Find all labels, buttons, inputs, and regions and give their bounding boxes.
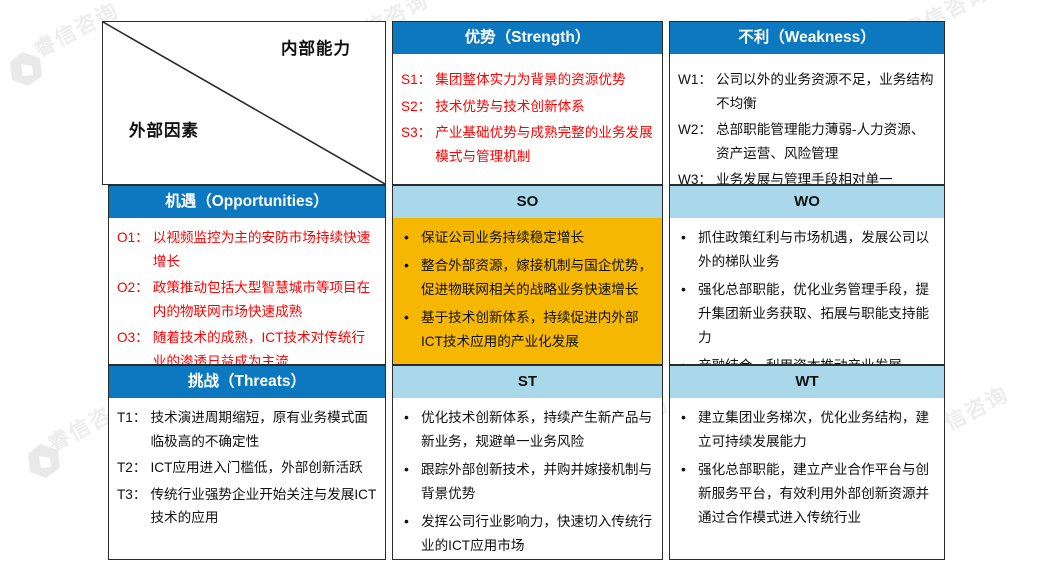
list-item: O1：以视频监控为主的安防市场持续快速增长	[117, 226, 377, 273]
so-header: SO	[393, 186, 662, 218]
list-item: 保证公司业务持续稳定增长	[401, 226, 654, 250]
weakness-header: 不利（Weakness）	[670, 22, 944, 54]
list-item: 产融结合，利用资本推动产业发展	[678, 354, 936, 365]
item-key: O2：	[117, 276, 149, 323]
wo-quadrant: WO 抓住政策红利与市场机遇，发展公司以外的梯队业务 强化总部职能，优化业务管理…	[669, 185, 945, 365]
item-key: O1：	[117, 226, 149, 273]
list-item: S1：集团整体实力为背景的资源优势	[401, 68, 654, 92]
item-text: 集团整体实力为背景的资源优势	[435, 68, 654, 92]
item-key: T2：	[117, 456, 146, 480]
wo-list: 抓住政策红利与市场机遇，发展公司以外的梯队业务 强化总部职能，优化业务管理手段，…	[678, 226, 936, 365]
list-item: W3：业务发展与管理手段相对单一	[678, 168, 936, 185]
list-item: O3：随着技术的成熟，ICT技术对传统行业的渗透日益成为主流	[117, 326, 377, 365]
opportunities-list: O1：以视频监控为主的安防市场持续快速增长 O2：政策推动包括大型智慧城市等项目…	[117, 226, 377, 365]
strength-column: 优势（Strength） S1：集团整体实力为背景的资源优势 S2：技术优势与技…	[392, 21, 663, 185]
wt-header: WT	[670, 366, 944, 398]
weakness-column: 不利（Weakness） W1：公司以外的业务资源不足，业务结构不均衡 W2：总…	[669, 21, 945, 185]
item-key: S3：	[401, 121, 431, 168]
wt-list: 建立集团业务梯次，优化业务结构，建立可持续发展能力 强化总部职能，建立产业合作平…	[678, 406, 936, 530]
wo-header: WO	[670, 186, 944, 218]
list-item: 跟踪外部创新技术，并购并嫁接机制与背景优势	[401, 458, 654, 506]
item-key: W1：	[678, 68, 712, 115]
list-item: 发挥公司行业影响力，快速切入传统行业的ICT应用市场	[401, 510, 654, 558]
item-text: 业务发展与管理手段相对单一	[716, 168, 936, 185]
item-text: 技术演进周期缩短，原有业务模式面临极高的不确定性	[150, 406, 377, 453]
list-item: W1：公司以外的业务资源不足，业务结构不均衡	[678, 68, 936, 115]
item-text: 产业基础优势与成熟完整的业务发展模式与管理机制	[435, 121, 654, 168]
item-text: 总部职能管理能力薄弱-人力资源、资产运营、风险管理	[716, 118, 936, 165]
strength-body: S1：集团整体实力为背景的资源优势 S2：技术优势与技术创新体系 S3：产业基础…	[393, 54, 662, 184]
item-key: O3：	[117, 326, 149, 365]
item-text: 以视频监控为主的安防市场持续快速增长	[153, 226, 377, 273]
wt-quadrant: WT 建立集团业务梯次，优化业务结构，建立可持续发展能力 强化总部职能，建立产业…	[669, 365, 945, 560]
threats-body: T1：技术演进周期缩短，原有业务模式面临极高的不确定性 T2：ICT应用进入门槛…	[109, 398, 385, 559]
list-item: 强化总部职能，建立产业合作平台与创新服务平台，有效利用外部创新资源并通过合作模式…	[678, 458, 936, 530]
axis-corner-cell: 内部能力 外部因素	[102, 21, 386, 185]
list-item: T3：传统行业强势企业开始关注与发展ICT技术的应用	[117, 483, 377, 530]
watermark-logo	[24, 440, 64, 485]
list-item: 强化总部职能，优化业务管理手段，提升集团新业务获取、拓展与职能支持能力	[678, 278, 936, 350]
item-text: 公司以外的业务资源不足，业务结构不均衡	[716, 68, 936, 115]
so-body: 保证公司业务持续稳定增长 整合外部资源，嫁接机制与国企优势，促进物联网相关的战略…	[393, 218, 662, 364]
swot-matrix-page: 睿信咨询 睿信咨询 睿信咨询 睿信咨询 睿信咨询 睿信咨询 睿信咨询 内部能力 …	[0, 0, 1040, 578]
opportunities-header: 机遇（Opportunities）	[109, 186, 385, 218]
list-item: 基于技术创新体系，持续促进内外部ICT技术应用的产业化发展	[401, 306, 654, 354]
list-item: S3：产业基础优势与成熟完整的业务发展模式与管理机制	[401, 121, 654, 168]
wt-body: 建立集团业务梯次，优化业务结构，建立可持续发展能力 强化总部职能，建立产业合作平…	[670, 398, 944, 559]
swot-grid: 内部能力 外部因素 优势（Strength） S1：集团整体实力为背景的资源优势…	[102, 21, 945, 560]
item-key: S2：	[401, 95, 431, 119]
st-quadrant: ST 优化技术创新体系，持续产生新产品与新业务，规避单一业务风险 跟踪外部创新技…	[392, 365, 663, 560]
item-key: S1：	[401, 68, 431, 92]
threats-row-header-cell: 挑战（Threats） T1：技术演进周期缩短，原有业务模式面临极高的不确定性 …	[108, 365, 386, 560]
watermark-logo	[6, 48, 46, 93]
list-item: 建立集团业务梯次，优化业务结构，建立可持续发展能力	[678, 406, 936, 454]
st-list: 优化技术创新体系，持续产生新产品与新业务，规避单一业务风险 跟踪外部创新技术，并…	[401, 406, 654, 558]
list-item: O2：政策推动包括大型智慧城市等项目在内的物联网市场快速成熟	[117, 276, 377, 323]
item-key: T1：	[117, 406, 146, 453]
st-header: ST	[393, 366, 662, 398]
item-text: 传统行业强势企业开始关注与发展ICT技术的应用	[150, 483, 377, 530]
list-item: T2：ICT应用进入门槛低，外部创新活跃	[117, 456, 377, 480]
external-factors-label: 外部因素	[129, 117, 199, 141]
list-item: S2：技术优势与技术创新体系	[401, 95, 654, 119]
item-key: W2：	[678, 118, 712, 165]
weakness-list: W1：公司以外的业务资源不足，业务结构不均衡 W2：总部职能管理能力薄弱-人力资…	[678, 68, 936, 185]
item-key: T3：	[117, 483, 146, 530]
strength-list: S1：集团整体实力为背景的资源优势 S2：技术优势与技术创新体系 S3：产业基础…	[401, 68, 654, 168]
opportunities-row-header-cell: 机遇（Opportunities） O1：以视频监控为主的安防市场持续快速增长 …	[108, 185, 386, 365]
so-quadrant: SO 保证公司业务持续稳定增长 整合外部资源，嫁接机制与国企优势，促进物联网相关…	[392, 185, 663, 365]
list-item: W2：总部职能管理能力薄弱-人力资源、资产运营、风险管理	[678, 118, 936, 165]
strength-header: 优势（Strength）	[393, 22, 662, 54]
item-text: 政策推动包括大型智慧城市等项目在内的物联网市场快速成熟	[153, 276, 377, 323]
item-key: W3：	[678, 168, 712, 185]
item-text: 技术优势与技术创新体系	[435, 95, 654, 119]
threats-header: 挑战（Threats）	[109, 366, 385, 398]
weakness-body: W1：公司以外的业务资源不足，业务结构不均衡 W2：总部职能管理能力薄弱-人力资…	[670, 54, 944, 184]
list-item: 整合外部资源，嫁接机制与国企优势，促进物联网相关的战略业务快速增长	[401, 254, 654, 302]
list-item: 优化技术创新体系，持续产生新产品与新业务，规避单一业务风险	[401, 406, 654, 454]
item-text: 随着技术的成熟，ICT技术对传统行业的渗透日益成为主流	[153, 326, 377, 365]
item-text: ICT应用进入门槛低，外部创新活跃	[150, 456, 377, 480]
wo-body: 抓住政策红利与市场机遇，发展公司以外的梯队业务 强化总部职能，优化业务管理手段，…	[670, 218, 944, 364]
internal-capability-label: 内部能力	[281, 35, 351, 59]
opportunities-body: O1：以视频监控为主的安防市场持续快速增长 O2：政策推动包括大型智慧城市等项目…	[109, 218, 385, 364]
so-list: 保证公司业务持续稳定增长 整合外部资源，嫁接机制与国企优势，促进物联网相关的战略…	[401, 226, 654, 354]
st-body: 优化技术创新体系，持续产生新产品与新业务，规避单一业务风险 跟踪外部创新技术，并…	[393, 398, 662, 559]
list-item: T1：技术演进周期缩短，原有业务模式面临极高的不确定性	[117, 406, 377, 453]
list-item: 抓住政策红利与市场机遇，发展公司以外的梯队业务	[678, 226, 936, 274]
threats-list: T1：技术演进周期缩短，原有业务模式面临极高的不确定性 T2：ICT应用进入门槛…	[117, 406, 377, 530]
